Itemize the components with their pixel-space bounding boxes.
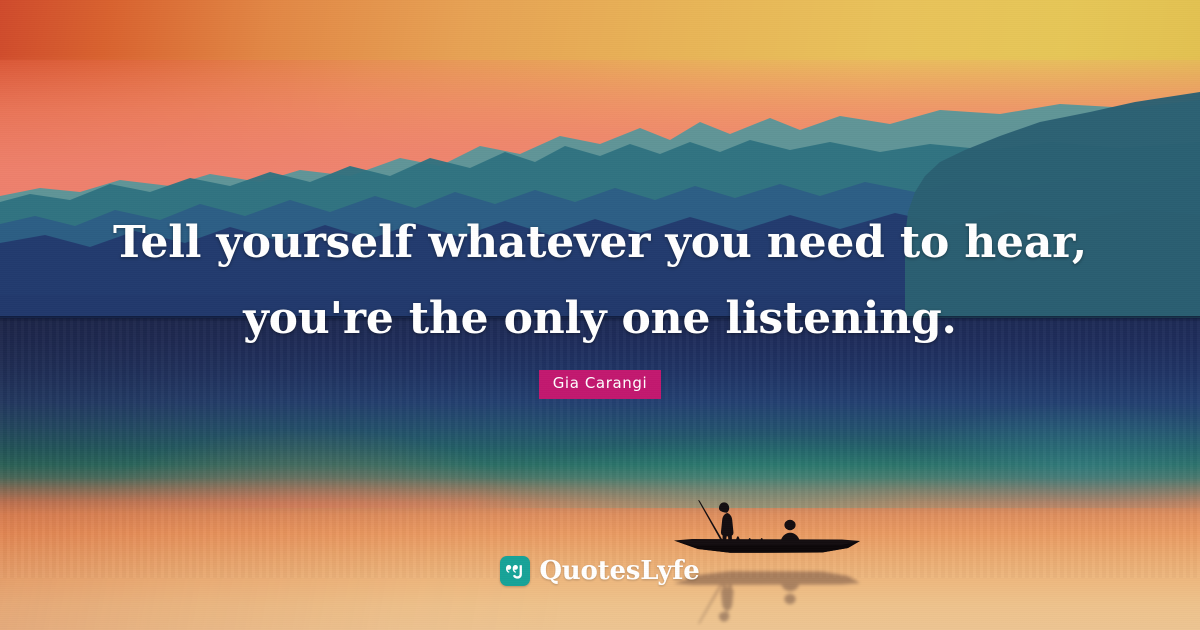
quote-text: Tell yourself whatever you need to hear,…	[0, 205, 1200, 357]
author-badge-wrap: Gia Carangi	[0, 370, 1200, 399]
author-badge[interactable]: Gia Carangi	[539, 370, 662, 399]
quote-line-2: you're the only one listening.	[0, 281, 1200, 357]
water-ripple-texture	[0, 318, 1200, 578]
quote-smiley-icon	[500, 556, 530, 586]
quoteslyfe-logo[interactable]: QuotesLyfe	[0, 556, 1200, 586]
quote-card: Tell yourself whatever you need to hear,…	[0, 0, 1200, 630]
quote-line-1: Tell yourself whatever you need to hear,	[0, 205, 1200, 281]
logo-wordmark: QuotesLyfe	[539, 556, 699, 586]
